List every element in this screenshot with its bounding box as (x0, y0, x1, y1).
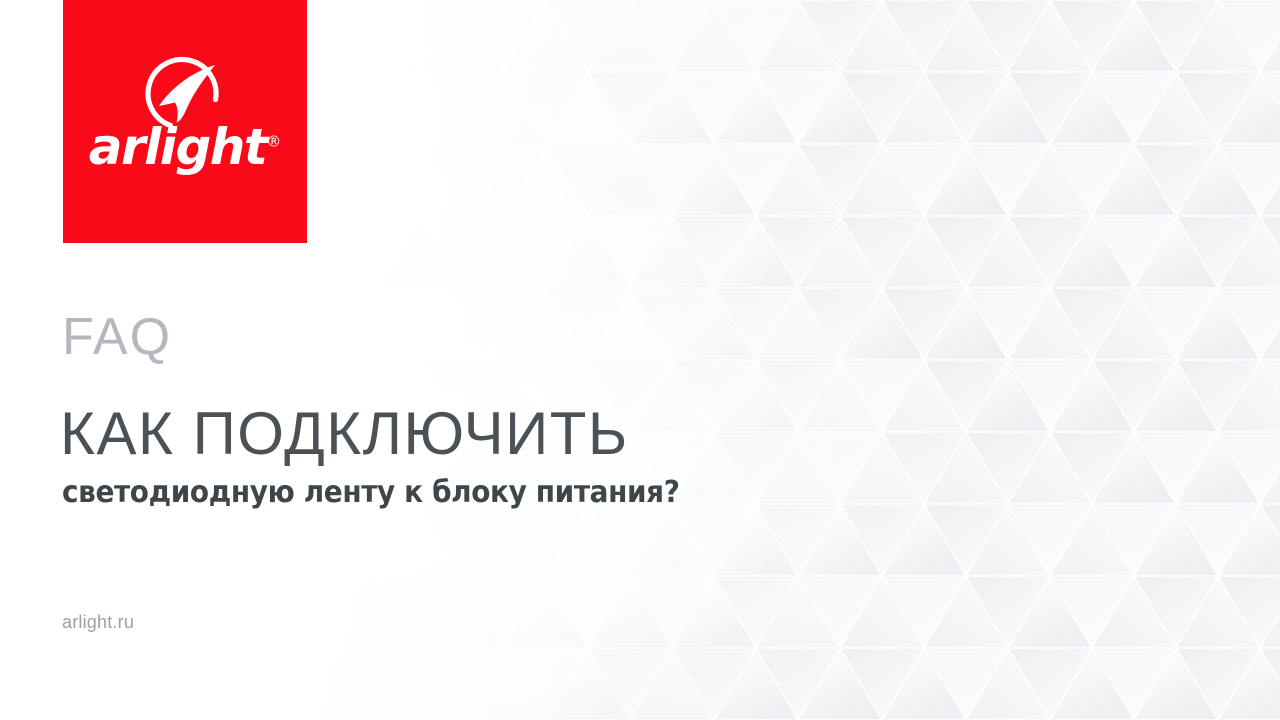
registered-trademark-icon: ® (266, 132, 281, 150)
page-subtitle: светодиодную ленту к блоку питания? (62, 478, 680, 508)
brand-logo-tile: arlight® (63, 0, 307, 243)
eyebrow-label: FAQ (62, 311, 172, 363)
page-title: КАК ПОДКЛЮЧИТЬ (60, 404, 629, 464)
site-url-label: arlight.ru (62, 613, 134, 631)
faq-title-slide: arlight® FAQ КАК ПОДКЛЮЧИТЬ светодиодную… (0, 0, 1280, 720)
brand-wordmark-text: arlight (89, 118, 266, 176)
brand-wordmark: arlight® (63, 122, 307, 172)
